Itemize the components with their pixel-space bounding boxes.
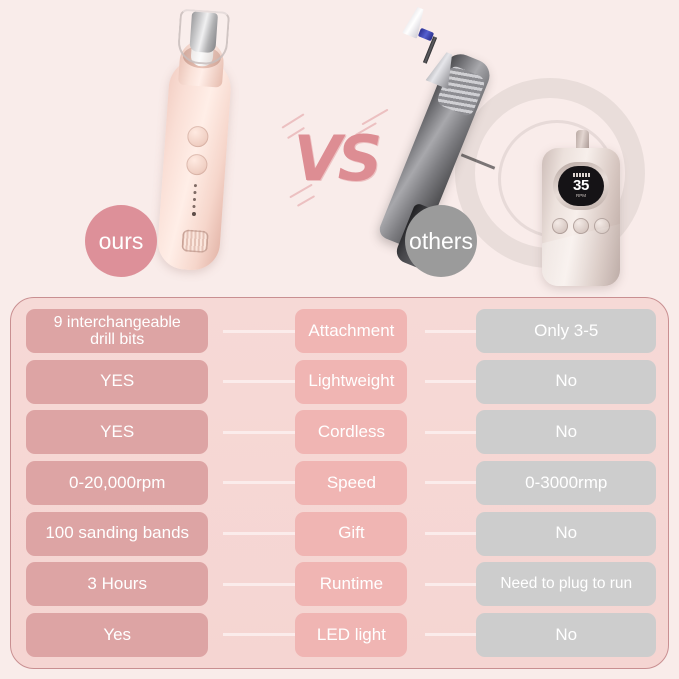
speed-display: 35 RPM xyxy=(558,166,604,206)
cell-ours: Yes xyxy=(26,613,208,657)
cell-feature: Cordless xyxy=(295,410,407,454)
cell-ours: 3 Hours xyxy=(26,562,208,606)
comparison-table: 9 interchangeabledrill bits Attachment O… xyxy=(10,297,669,669)
cell-others: Only 3-5 xyxy=(476,309,656,353)
cell-others: 0-3000rmp xyxy=(476,461,656,505)
control-box: 35 RPM xyxy=(542,148,620,286)
cell-ours: 0-20,000rpm xyxy=(26,461,208,505)
cell-feature: LED light xyxy=(295,613,407,657)
cell-others: No xyxy=(476,360,656,404)
cell-ours: 100 sanding bands xyxy=(26,512,208,556)
table-row: YES Cordless No xyxy=(23,410,656,454)
cell-others: No xyxy=(476,512,656,556)
display-unit: RPM xyxy=(576,194,586,199)
table-row: 0-20,000rpm Speed 0-3000rmp xyxy=(23,461,656,505)
cell-feature: Lightweight xyxy=(295,360,407,404)
table-row: 3 Hours Runtime Need to plug to run xyxy=(23,562,656,606)
cell-feature: Runtime xyxy=(295,562,407,606)
vs-graphic: VS xyxy=(284,106,388,210)
badge-ours: ours xyxy=(85,205,157,277)
cell-ours: 9 interchangeabledrill bits xyxy=(26,309,208,353)
handpiece-seam xyxy=(461,153,496,169)
product-comparison-image: ours VS xyxy=(0,0,679,679)
table-row: 100 sanding bands Gift No xyxy=(23,512,656,556)
cell-feature: Attachment xyxy=(295,309,407,353)
cell-feature: Speed xyxy=(295,461,407,505)
cell-ours: YES xyxy=(26,410,208,454)
cell-others: No xyxy=(476,410,656,454)
table-row: Yes LED light No xyxy=(23,613,656,657)
badge-others: others xyxy=(405,205,477,277)
cell-others: Need to plug to run xyxy=(476,562,656,606)
minus-button-icon xyxy=(552,218,568,234)
vs-label: VS xyxy=(284,106,388,210)
display-value: 35 xyxy=(573,178,589,193)
table-row: YES Lightweight No xyxy=(23,360,656,404)
table-row: 9 interchangeabledrill bits Attachment O… xyxy=(23,309,656,353)
cell-ours: YES xyxy=(26,360,208,404)
hero-product-section: ours VS xyxy=(0,0,679,296)
cell-feature: Gift xyxy=(295,512,407,556)
cell-others: No xyxy=(476,613,656,657)
safety-guard-icon xyxy=(177,9,231,66)
speed-wheel-icon xyxy=(181,229,208,253)
